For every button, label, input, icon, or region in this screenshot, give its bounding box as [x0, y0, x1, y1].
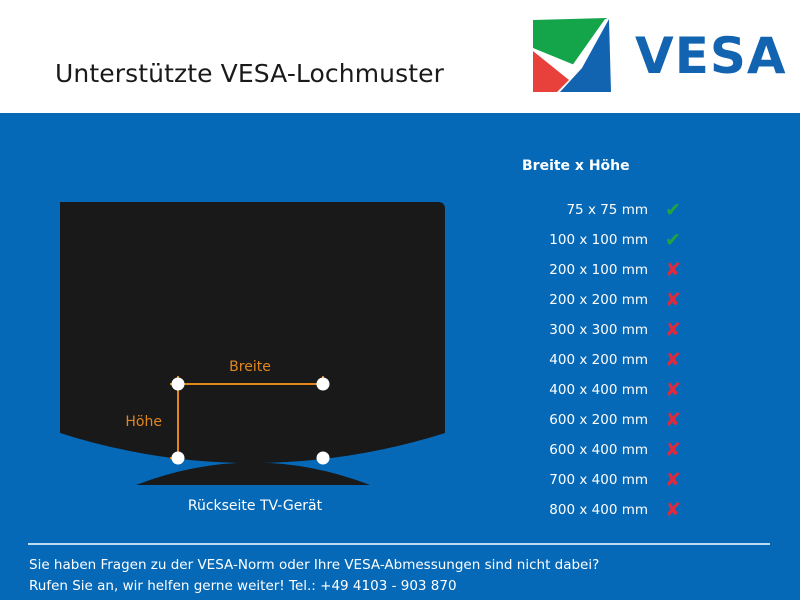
- table-row: 400 x 200 mm ✘: [500, 345, 730, 375]
- table-row: 800 x 400 mm ✘: [500, 495, 730, 525]
- pattern-label: 600 x 400 mm: [500, 442, 648, 458]
- pattern-label: 600 x 200 mm: [500, 412, 648, 428]
- cross-icon: ✘: [648, 471, 698, 490]
- tv-rear-diagram: Breite Höhe: [40, 188, 470, 488]
- content-panel: Breite Höhe Rückseite TV-Gerät Breite x …: [0, 113, 800, 600]
- mount-hole-top-left: [172, 378, 185, 391]
- pattern-label: 200 x 100 mm: [500, 262, 648, 278]
- width-label: Breite: [229, 359, 271, 375]
- table-row: 600 x 200 mm ✘: [500, 405, 730, 435]
- pattern-label: 400 x 200 mm: [500, 352, 648, 368]
- footer-divider: [28, 543, 770, 545]
- cross-icon: ✘: [648, 381, 698, 400]
- pattern-label: 800 x 400 mm: [500, 502, 648, 518]
- cross-icon: ✘: [648, 261, 698, 280]
- pattern-label: 300 x 300 mm: [500, 322, 648, 338]
- mount-hole-top-right: [317, 378, 330, 391]
- page-title: Unterstützte VESA-Lochmuster: [55, 59, 444, 89]
- cross-icon: ✘: [648, 351, 698, 370]
- tv-stand-base: [136, 463, 370, 486]
- cross-icon: ✘: [648, 441, 698, 460]
- tv-diagram-caption: Rückseite TV-Gerät: [40, 498, 470, 514]
- vesa-wordmark: VESA: [635, 30, 787, 82]
- page-header: Unterstützte VESA-Lochmuster VESA: [0, 0, 800, 113]
- vesa-info-page: Unterstützte VESA-Lochmuster VESA: [0, 0, 800, 600]
- cross-icon: ✘: [648, 291, 698, 310]
- table-row: 700 x 400 mm ✘: [500, 465, 730, 495]
- table-row: 400 x 400 mm ✘: [500, 375, 730, 405]
- pattern-label: 700 x 400 mm: [500, 472, 648, 488]
- cross-icon: ✘: [648, 411, 698, 430]
- spec-table-header: Breite x Höhe: [500, 158, 730, 174]
- vesa-checkmark-logo-icon: [527, 18, 613, 94]
- table-row: 200 x 200 mm ✘: [500, 285, 730, 315]
- table-row: 100 x 100 mm ✔: [500, 225, 730, 255]
- pattern-label: 75 x 75 mm: [500, 202, 648, 218]
- footer-contact-text: Sie haben Fragen zu der VESA-Norm oder I…: [29, 555, 774, 597]
- footer-line-2: Rufen Sie an, wir helfen gerne weiter! T…: [29, 576, 774, 597]
- table-row: 75 x 75 mm ✔: [500, 195, 730, 225]
- pattern-label: 200 x 200 mm: [500, 292, 648, 308]
- check-icon: ✔: [648, 231, 698, 250]
- height-label: Höhe: [125, 414, 162, 430]
- mount-hole-bottom-right: [317, 452, 330, 465]
- table-row: 200 x 100 mm ✘: [500, 255, 730, 285]
- table-row: 300 x 300 mm ✘: [500, 315, 730, 345]
- check-icon: ✔: [648, 201, 698, 220]
- cross-icon: ✘: [648, 321, 698, 340]
- footer-line-1: Sie haben Fragen zu der VESA-Norm oder I…: [29, 555, 774, 576]
- pattern-label: 400 x 400 mm: [500, 382, 648, 398]
- mount-hole-bottom-left: [172, 452, 185, 465]
- table-row: 600 x 400 mm ✘: [500, 435, 730, 465]
- vesa-pattern-table: Breite x Höhe 75 x 75 mm ✔ 100 x 100 mm …: [500, 158, 730, 525]
- pattern-label: 100 x 100 mm: [500, 232, 648, 248]
- vesa-logo: VESA: [527, 18, 785, 98]
- cross-icon: ✘: [648, 501, 698, 520]
- tv-body-shape: [60, 202, 445, 463]
